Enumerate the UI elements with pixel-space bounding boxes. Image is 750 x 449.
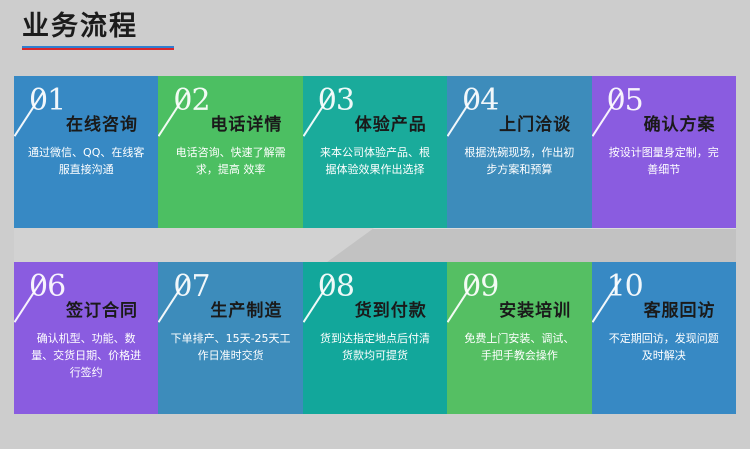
card-description: 确认机型、功能、数量、交货日期、价格进行签约 xyxy=(20,330,152,381)
card-description: 免费上门安装、调试、手把手教会操作 xyxy=(453,330,585,364)
card-head: 07 生产制造 xyxy=(164,276,296,324)
flow-card-09[interactable]: 09 安装培训 免费上门安装、调试、手把手教会操作 xyxy=(447,262,591,414)
flow-card-03[interactable]: 03 体验产品 来本公司体验产品、根据体验效果作出选择 xyxy=(303,76,447,228)
card-head: 02 电话详情 xyxy=(164,90,296,138)
card-number: 03 xyxy=(318,86,354,116)
business-flow-panel: 01 在线咨询 通过微信、QQ、在线客服直接沟通 02 电话详情 电话咨询、快速… xyxy=(14,76,736,414)
flow-card-06[interactable]: 06 签订合同 确认机型、功能、数量、交货日期、价格进行签约 xyxy=(14,262,158,414)
card-description: 根据洗碗现场，作出初步方案和预算 xyxy=(453,144,585,178)
card-head: 10 客服回访 xyxy=(598,276,730,324)
card-title: 生产制造 xyxy=(210,296,282,321)
card-title: 电话详情 xyxy=(210,110,282,135)
card-description: 来本公司体验产品、根据体验效果作出选择 xyxy=(309,144,441,178)
card-title: 上门洽谈 xyxy=(499,110,571,135)
title-underline xyxy=(22,46,174,50)
flow-card-01[interactable]: 01 在线咨询 通过微信、QQ、在线客服直接沟通 xyxy=(14,76,158,228)
card-description: 不定期回访，发现问题及时解决 xyxy=(598,330,730,364)
card-number: 05 xyxy=(607,86,643,116)
flow-card-07[interactable]: 07 生产制造 下单排产、15天-25天工作日准时交货 xyxy=(158,262,302,414)
card-title: 货到付款 xyxy=(355,296,427,321)
flow-card-04[interactable]: 04 上门洽谈 根据洗碗现场，作出初步方案和预算 xyxy=(447,76,591,228)
card-head: 06 签订合同 xyxy=(20,276,152,324)
card-title: 确认方案 xyxy=(644,110,716,135)
card-number: 01 xyxy=(29,86,65,116)
divider-diagonal-highlight xyxy=(14,228,374,262)
flow-card-10[interactable]: 10 客服回访 不定期回访，发现问题及时解决 xyxy=(592,262,736,414)
card-description: 电话咨询、快速了解需求，提高 效率 xyxy=(164,144,296,178)
card-head: 05 确认方案 xyxy=(598,90,730,138)
page-header: 业务流程 xyxy=(22,10,322,50)
card-head: 09 安装培训 xyxy=(453,276,585,324)
flow-row-bottom: 06 签订合同 确认机型、功能、数量、交货日期、价格进行签约 07 生产制造 下… xyxy=(14,262,736,414)
card-description: 按设计图量身定制，完善细节 xyxy=(598,144,730,178)
card-number: 06 xyxy=(29,272,65,302)
card-title: 在线咨询 xyxy=(66,110,138,135)
row-divider-band xyxy=(14,228,736,262)
card-number: 08 xyxy=(318,272,354,302)
flow-card-08[interactable]: 08 货到付款 货到达指定地点后付清货款均可提货 xyxy=(303,262,447,414)
card-head: 04 上门洽谈 xyxy=(453,90,585,138)
flow-card-05[interactable]: 05 确认方案 按设计图量身定制，完善细节 xyxy=(592,76,736,228)
card-number: 10 xyxy=(607,272,643,302)
card-title: 签订合同 xyxy=(66,296,138,321)
card-title: 客服回访 xyxy=(644,296,716,321)
card-description: 货到达指定地点后付清货款均可提货 xyxy=(309,330,441,364)
page-title: 业务流程 xyxy=(22,10,322,44)
flow-card-02[interactable]: 02 电话详情 电话咨询、快速了解需求，提高 效率 xyxy=(158,76,302,228)
card-description: 通过微信、QQ、在线客服直接沟通 xyxy=(20,144,152,178)
card-title: 体验产品 xyxy=(355,110,427,135)
title-underline-red xyxy=(22,48,174,50)
card-head: 01 在线咨询 xyxy=(20,90,152,138)
flow-row-top: 01 在线咨询 通过微信、QQ、在线客服直接沟通 02 电话详情 电话咨询、快速… xyxy=(14,76,736,228)
card-description: 下单排产、15天-25天工作日准时交货 xyxy=(164,330,296,364)
card-head: 03 体验产品 xyxy=(309,90,441,138)
card-head: 08 货到付款 xyxy=(309,276,441,324)
card-title: 安装培训 xyxy=(499,296,571,321)
